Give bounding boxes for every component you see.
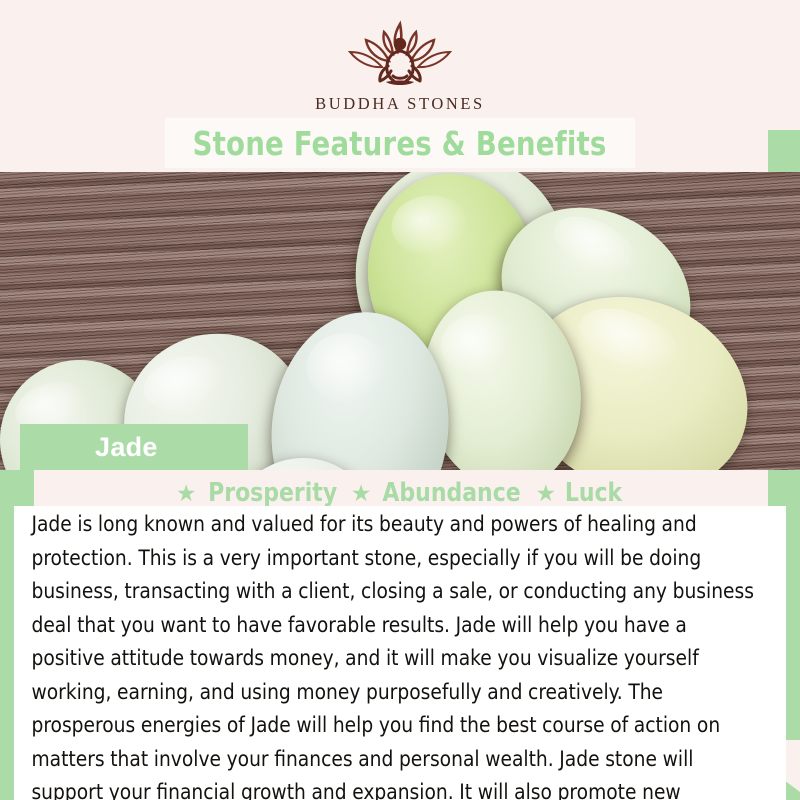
infographic-card: BUDDHA STONES Stone Features & Benefits … xyxy=(0,0,800,800)
page-title: Stone Features & Benefits xyxy=(193,124,607,163)
keyword-label: Prosperity xyxy=(208,478,337,508)
keyword-label: Luck xyxy=(565,478,622,508)
brand-wordmark: BUDDHA STONES xyxy=(0,94,800,114)
brand-logo: BUDDHA STONES xyxy=(0,18,800,114)
keyword-item: ★ Luck xyxy=(536,478,625,508)
description-text: Jade is long known and valued for its be… xyxy=(14,508,763,800)
description-panel: Jade is long known and valued for its be… xyxy=(14,506,786,800)
stone-name-banner: Jade xyxy=(20,424,248,470)
stone-name: Jade xyxy=(95,432,158,463)
keyword-label: Abundance xyxy=(383,478,521,508)
keyword-item: ★ Abundance xyxy=(351,478,526,508)
keyword-item: ★ Prosperity xyxy=(176,478,341,508)
lotus-meditation-icon xyxy=(336,18,464,90)
star-icon: ★ xyxy=(351,482,372,505)
star-icon: ★ xyxy=(176,482,197,505)
star-icon: ★ xyxy=(536,482,557,505)
keyword-row: ★ Prosperity ★ Abundance ★ Luck xyxy=(0,478,800,508)
title-banner: Stone Features & Benefits xyxy=(165,118,635,168)
